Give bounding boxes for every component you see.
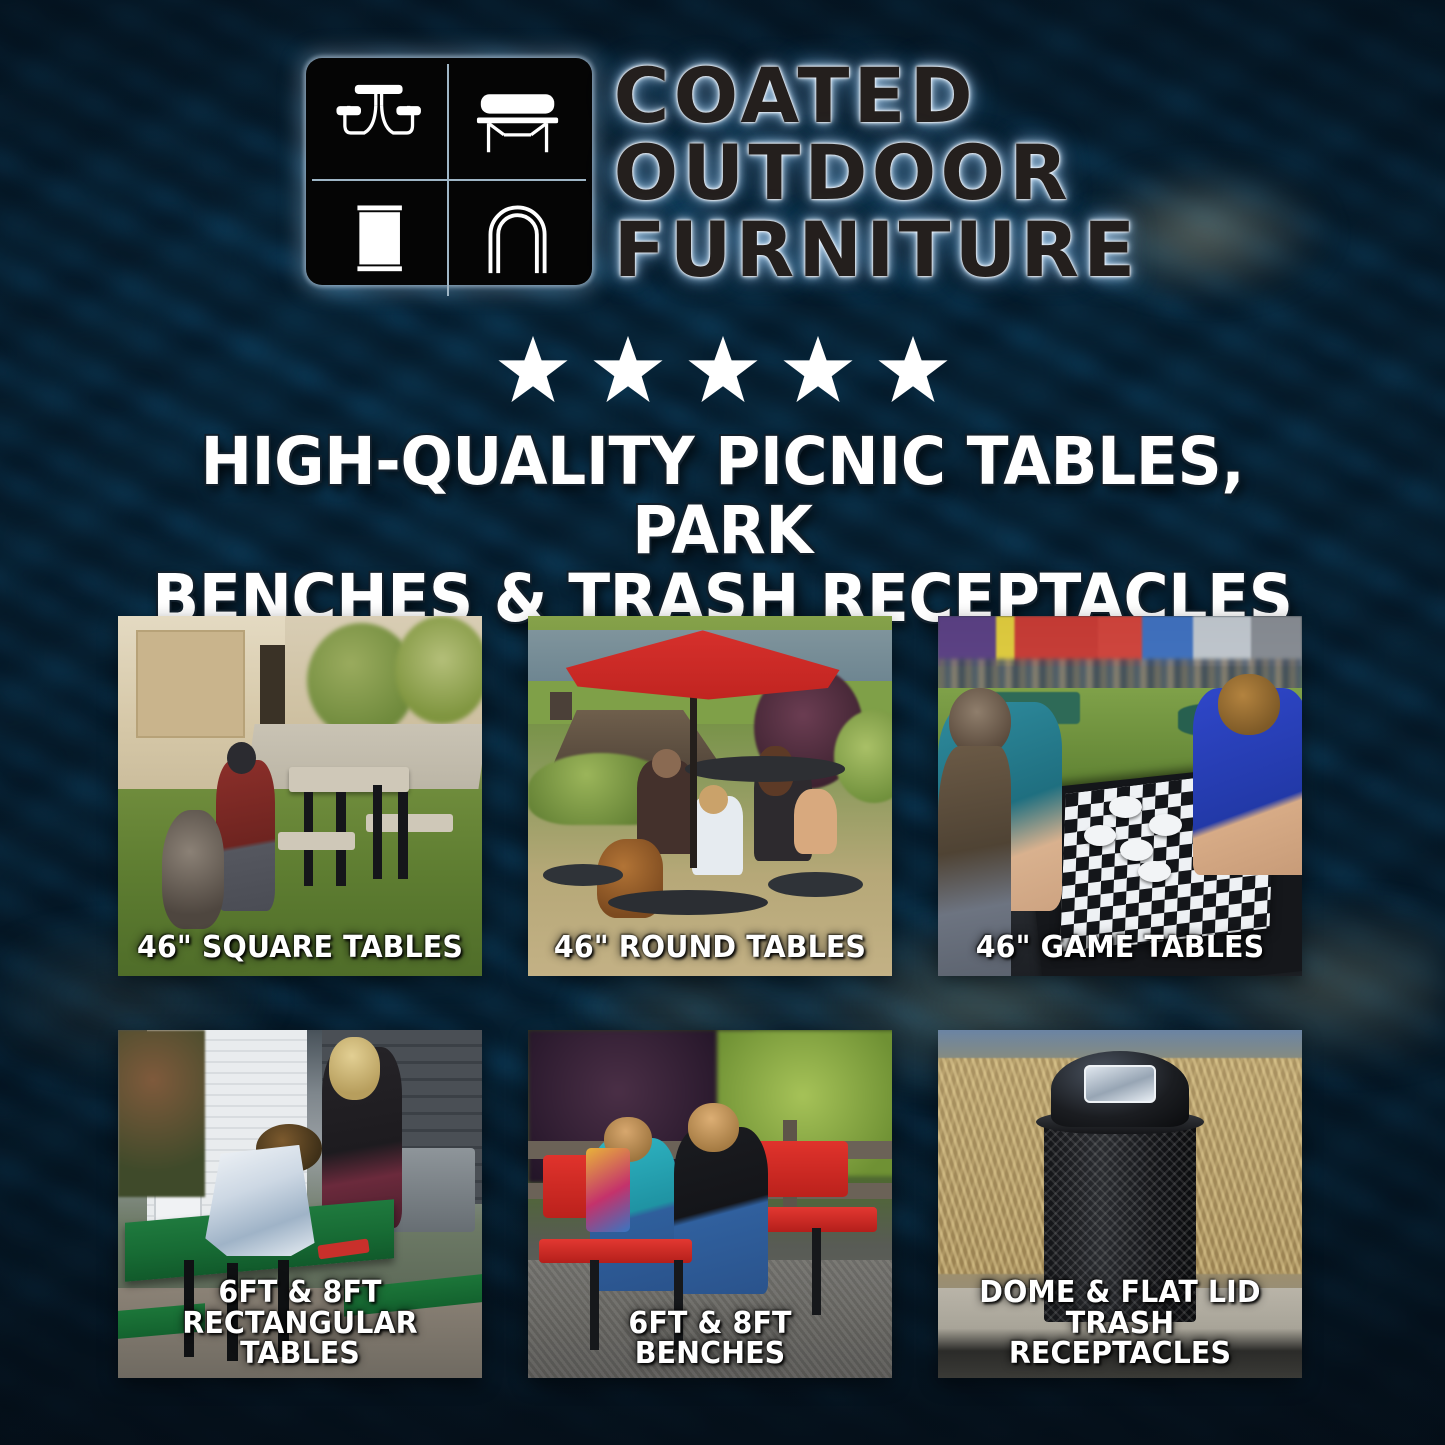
caption-line-2: BENCHES <box>543 1339 877 1370</box>
trash-receptacle-icon <box>312 181 449 296</box>
product-photo-square-tables <box>118 616 482 976</box>
caption-line-2: RECTANGULAR TABLES <box>133 1309 467 1370</box>
product-caption: DOME & FLAT LID TRASH RECEPTACLES <box>953 1278 1287 1370</box>
caption-line-1: 46" GAME TABLES <box>953 933 1287 964</box>
poster-content: COATED OUTDOOR FURNITURE HIGH-QUALITY PI… <box>0 0 1445 1445</box>
product-caption: 46" ROUND TABLES <box>543 933 877 964</box>
star-icon <box>687 334 759 404</box>
product-photo-game-tables <box>938 616 1302 976</box>
product-card-game-tables[interactable]: 46" GAME TABLES <box>938 616 1302 976</box>
star-icon <box>877 334 949 404</box>
product-card-trash-receptacles[interactable]: DOME & FLAT LID TRASH RECEPTACLES <box>938 1030 1302 1378</box>
product-caption: 46" SQUARE TABLES <box>133 933 467 964</box>
caption-line-1: 6FT & 8FT <box>543 1309 877 1340</box>
product-photo-round-tables <box>528 616 892 976</box>
product-caption: 6FT & 8FT BENCHES <box>543 1309 877 1370</box>
product-grid: 46" SQUARE TABLES 46" ROUND TABLES <box>118 616 1329 1378</box>
logo-line-1: COATED <box>614 60 977 133</box>
caption-line-1: 46" SQUARE TABLES <box>133 933 467 964</box>
headline-line-1: HIGH-QUALITY PICNIC TABLES, PARK <box>106 428 1338 565</box>
product-card-square-tables[interactable]: 46" SQUARE TABLES <box>118 616 482 976</box>
star-icon <box>497 334 569 404</box>
brand-logo: COATED OUTDOOR FURNITURE <box>0 58 1445 287</box>
logo-icon-grid <box>306 58 592 285</box>
logo-wordmark: COATED OUTDOOR FURNITURE <box>614 58 1140 287</box>
picnic-table-icon <box>312 64 449 181</box>
caption-line-1: 6FT & 8FT <box>133 1278 467 1309</box>
arch-bike-rack-icon <box>449 181 586 296</box>
star-rating <box>0 334 1445 404</box>
bench-icon <box>449 64 586 181</box>
star-icon <box>592 334 664 404</box>
product-card-rectangular-tables[interactable]: 6FT & 8FT RECTANGULAR TABLES <box>118 1030 482 1378</box>
product-caption: 46" GAME TABLES <box>953 933 1287 964</box>
product-caption: 6FT & 8FT RECTANGULAR TABLES <box>133 1278 467 1370</box>
logo-line-2: OUTDOOR <box>614 137 1072 210</box>
caption-line-1: DOME & FLAT LID <box>953 1278 1287 1309</box>
product-card-benches[interactable]: 6FT & 8FT BENCHES <box>528 1030 892 1378</box>
product-card-round-tables[interactable]: 46" ROUND TABLES <box>528 616 892 976</box>
caption-line-1: 46" ROUND TABLES <box>543 933 877 964</box>
star-icon <box>782 334 854 404</box>
logo-line-3: FURNITURE <box>614 214 1140 287</box>
caption-line-2: TRASH RECEPTACLES <box>953 1309 1287 1370</box>
page-title: HIGH-QUALITY PICNIC TABLES, PARK BENCHES… <box>106 428 1338 634</box>
